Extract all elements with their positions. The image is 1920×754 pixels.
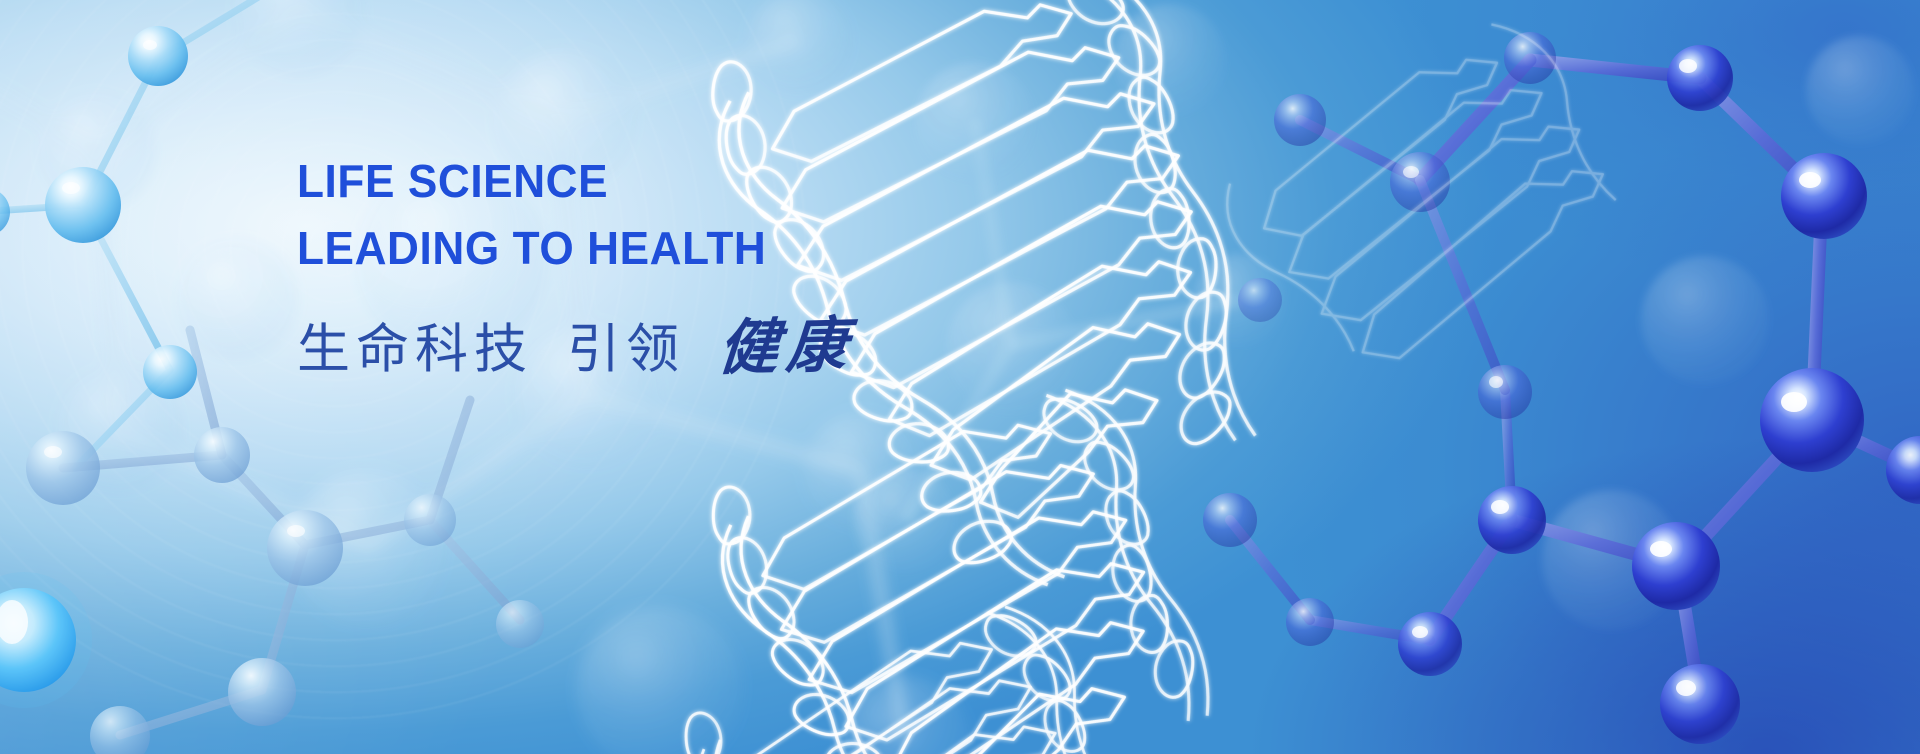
headline-line-2: LEADING TO HEALTH bbox=[297, 215, 1027, 282]
page-title: LIFE SCIENCE LEADING TO HEALTH bbox=[297, 148, 1027, 282]
subtitle-part-3-accent: 健康 bbox=[715, 297, 858, 388]
banner-copy: LIFE SCIENCE LEADING TO HEALTH 生命科技 引领 健… bbox=[297, 148, 1057, 385]
subtitle: 生命科技 引领 健康 bbox=[297, 298, 1057, 385]
life-science-banner: LIFE SCIENCE LEADING TO HEALTH 生命科技 引领 健… bbox=[0, 0, 1920, 754]
subtitle-part-2: 引领 bbox=[567, 307, 685, 383]
headline-line-1: LIFE SCIENCE bbox=[297, 148, 1027, 215]
subtitle-part-1: 生命科技 bbox=[297, 307, 533, 383]
